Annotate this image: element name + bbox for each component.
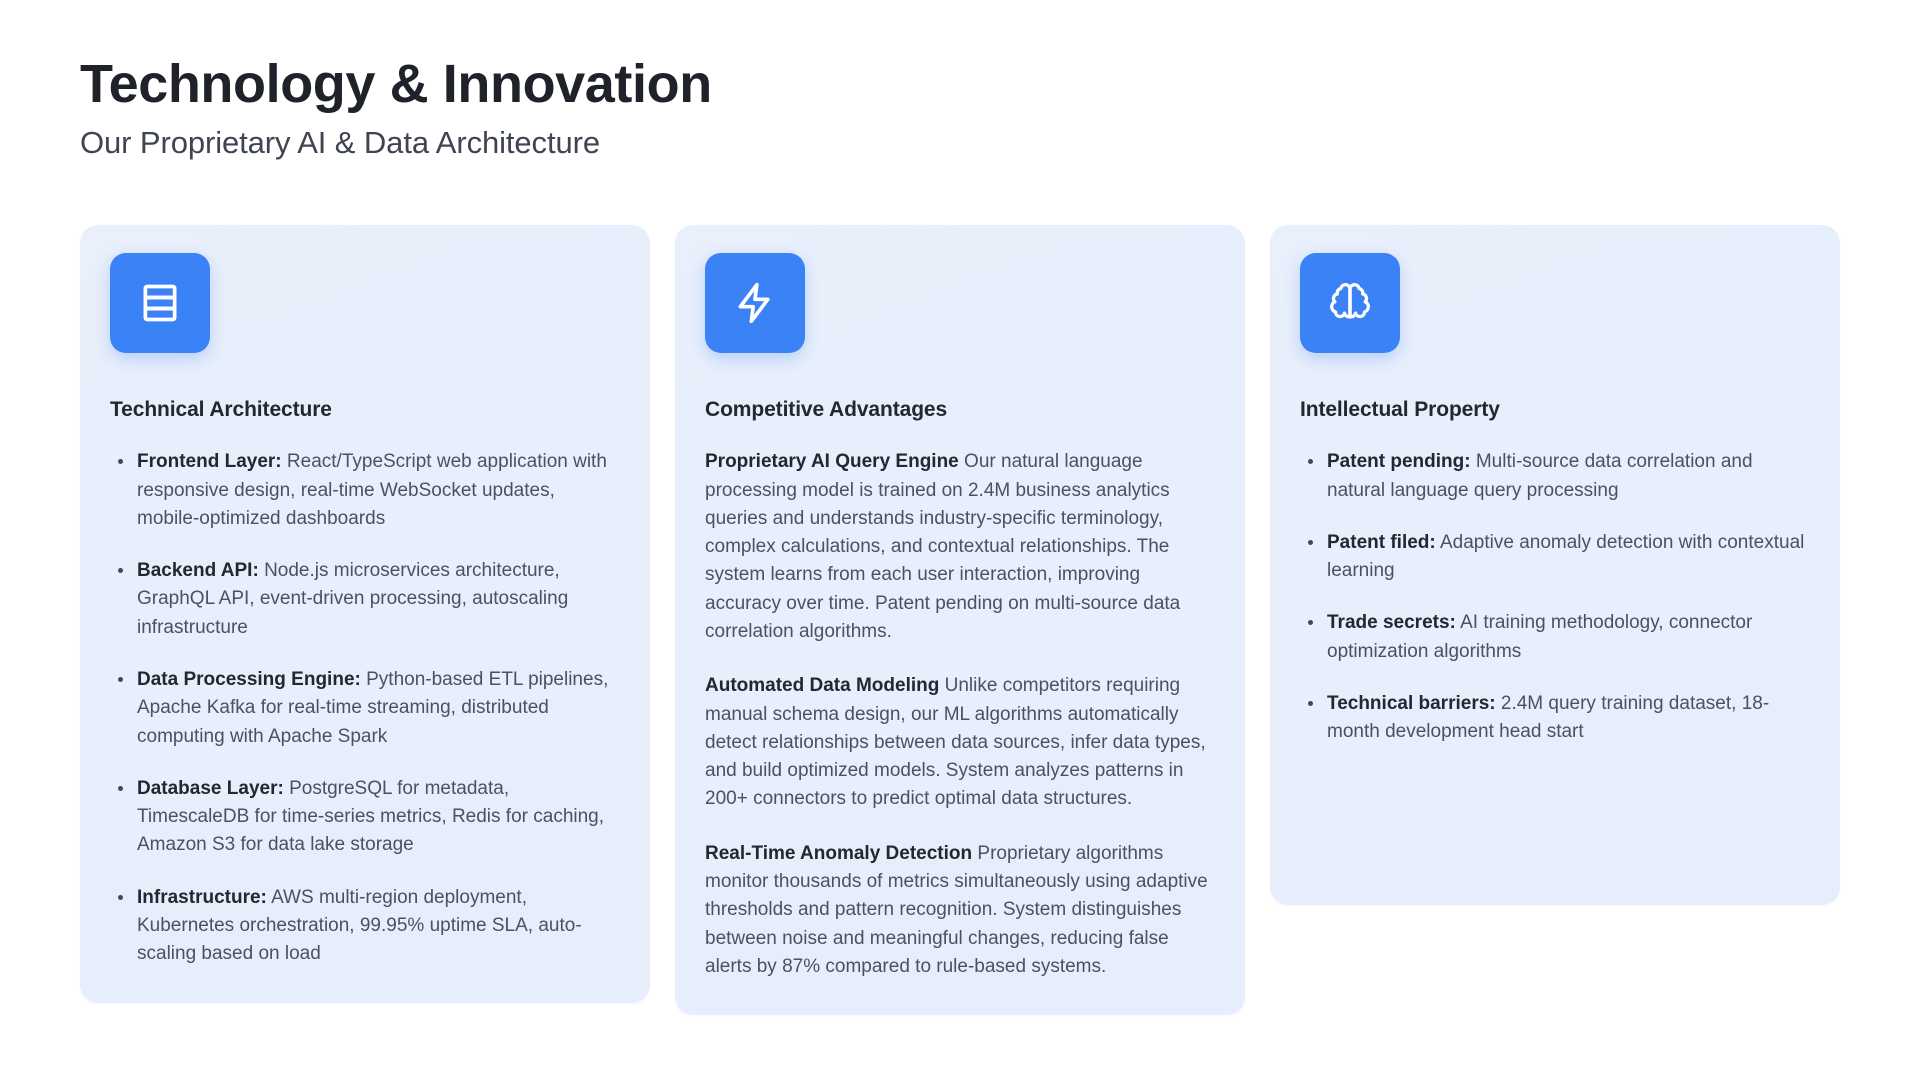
paragraph-item: Automated Data Modeling Unlike competito… [705, 672, 1215, 813]
paragraph-item: Proprietary AI Query Engine Our natural … [705, 448, 1215, 646]
paragraph-label: Real-Time Anomaly Detection [705, 843, 972, 864]
slide-root: Technology & Innovation Our Proprietary … [0, 0, 1920, 1080]
bullet-list: Frontend Layer: React/TypeScript web app… [110, 448, 620, 968]
list-item: Backend API: Node.js microservices archi… [110, 557, 620, 642]
page-title: Technology & Innovation [80, 48, 1840, 114]
list-item-label: Patent pending: [1327, 451, 1471, 472]
card-title: Competitive Advantages [705, 398, 1215, 422]
list-item: Patent pending: Multi-source data correl… [1300, 448, 1810, 505]
list-item: Data Processing Engine: Python-based ETL… [110, 666, 620, 751]
server-stack-icon [138, 281, 182, 325]
card-title: Intellectual Property [1300, 398, 1810, 422]
lightning-bolt-icon-tile [705, 253, 805, 353]
list-item: Patent filed: Adaptive anomaly detection… [1300, 529, 1810, 586]
list-item-label: Infrastructure: [137, 887, 267, 908]
card-intellectual-property[interactable]: Intellectual Property Patent pending: Mu… [1270, 225, 1840, 905]
card-competitive-advantages[interactable]: Competitive Advantages Proprietary AI Qu… [675, 225, 1245, 1015]
brain-icon-tile [1300, 253, 1400, 353]
paragraph-text: Our natural language processing model is… [705, 451, 1180, 642]
card-technical-architecture[interactable]: Technical Architecture Frontend Layer: R… [80, 225, 650, 1002]
list-item: Infrastructure: AWS multi-region deploym… [110, 884, 620, 969]
cards-row: Technical Architecture Frontend Layer: R… [80, 225, 1840, 1015]
list-item-label: Backend API: [137, 560, 259, 581]
server-stack-icon-tile [110, 253, 210, 353]
page-subtitle: Our Proprietary AI & Data Architecture [80, 124, 1840, 163]
list-item-label: Patent filed: [1327, 532, 1436, 553]
list-item: Database Layer: PostgreSQL for metadata,… [110, 775, 620, 860]
list-item: Trade secrets: AI training methodology, … [1300, 609, 1810, 666]
list-item-label: Technical barriers: [1327, 693, 1496, 714]
list-item-label: Trade secrets: [1327, 612, 1456, 633]
paragraph-list: Proprietary AI Query Engine Our natural … [705, 448, 1215, 981]
paragraph-label: Proprietary AI Query Engine [705, 451, 959, 472]
list-item-label: Frontend Layer: [137, 451, 282, 472]
list-item-label: Data Processing Engine: [137, 669, 361, 690]
paragraph-label: Automated Data Modeling [705, 675, 939, 696]
list-item: Frontend Layer: React/TypeScript web app… [110, 448, 620, 533]
list-item: Technical barriers: 2.4M query training … [1300, 690, 1810, 747]
list-item-label: Database Layer: [137, 778, 284, 799]
brain-icon [1328, 281, 1372, 325]
lightning-bolt-icon [733, 281, 777, 325]
bullet-list: Patent pending: Multi-source data correl… [1300, 448, 1810, 746]
paragraph-item: Real-Time Anomaly Detection Proprietary … [705, 840, 1215, 981]
card-title: Technical Architecture [110, 398, 620, 422]
